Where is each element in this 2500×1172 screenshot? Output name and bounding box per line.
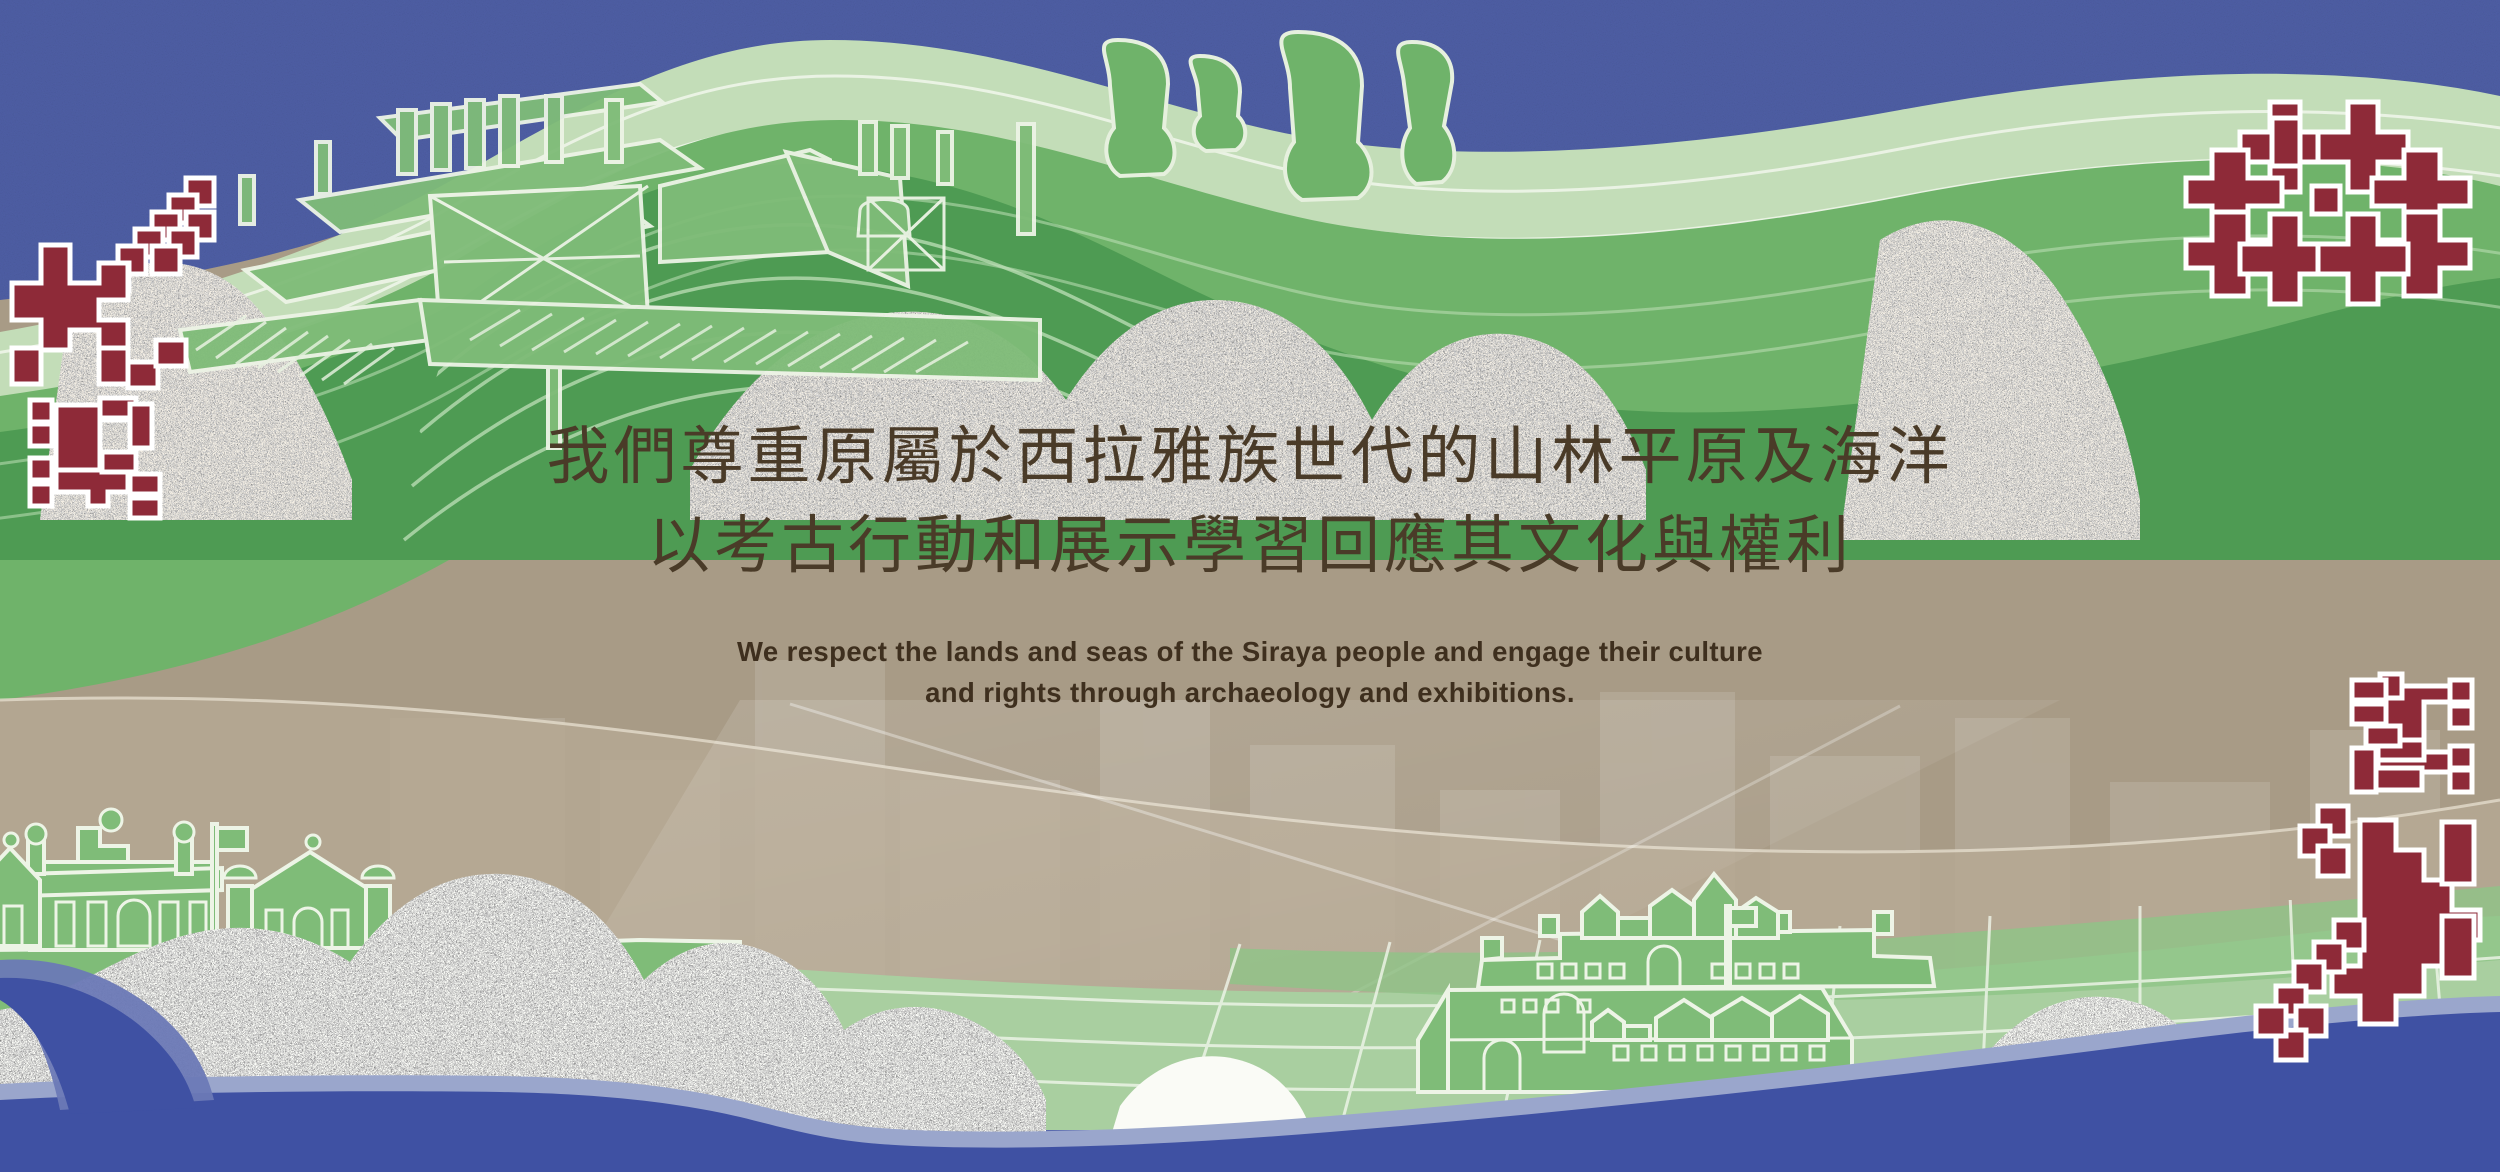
siraya-diagonal-arrow-motif (12, 178, 214, 388)
siraya-diagonal-arrow-motif-mirrored (2256, 806, 2480, 1060)
siraya-totem-motif-inverted (2352, 674, 2472, 792)
siraya-totem-motif (30, 398, 160, 518)
siraya-pattern-motifs (0, 0, 2500, 1172)
land-acknowledgement-banner: 我們尊重原屬於西拉雅族世代的山林平原及海洋 以考古行動和展示學習回應其文化與權利… (0, 0, 2500, 1172)
siraya-eight-point-star-motif (2186, 102, 2470, 304)
